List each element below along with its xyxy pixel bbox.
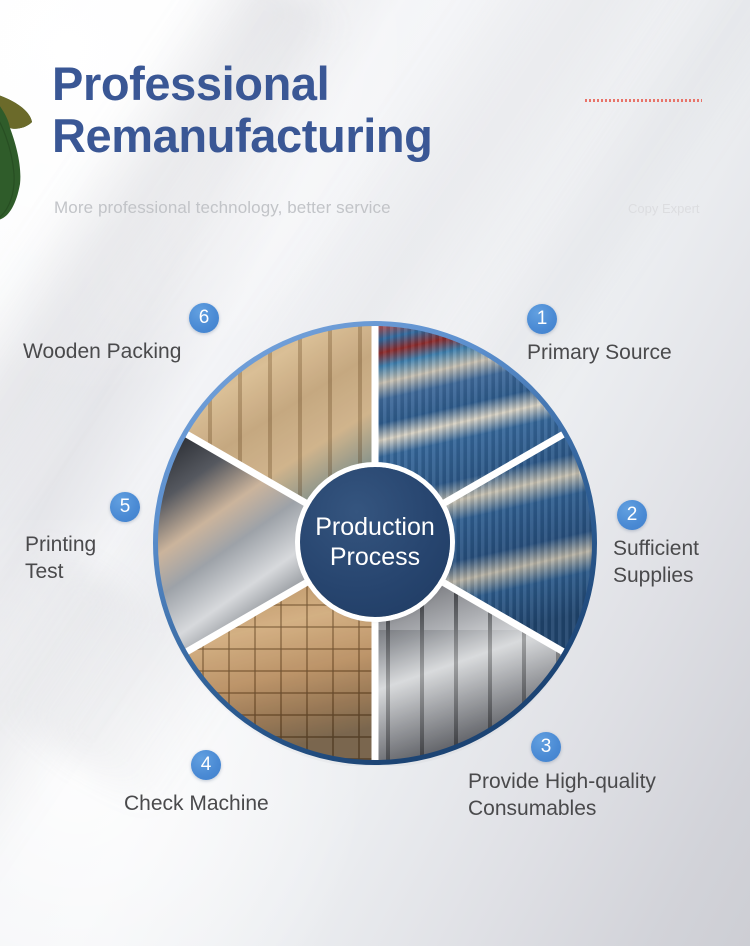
- step-label-6: Wooden Packing: [23, 338, 181, 365]
- page-title: Professional Remanufacturing: [52, 58, 433, 162]
- step-badge-4[interactable]: 4: [191, 750, 221, 780]
- step-badge-5[interactable]: 5: [110, 492, 140, 522]
- infographic-page: Professional Remanufacturing More profes…: [0, 0, 750, 946]
- step-badge-3[interactable]: 3: [531, 732, 561, 762]
- page-subtitle: More professional technology, better ser…: [54, 198, 391, 218]
- page-title-line2: Remanufacturing: [52, 110, 433, 162]
- background-shadow-band: [0, 532, 168, 946]
- page-title-line1: Professional: [52, 58, 433, 110]
- hub-line1: Production: [315, 512, 435, 542]
- watermark-label: Copy Expert: [628, 201, 700, 216]
- dotted-accent-line: [585, 99, 702, 102]
- step-label-5: Printing Test: [25, 531, 96, 585]
- wheel-hub: Production Process: [300, 467, 450, 617]
- green-leaf-icon: [0, 88, 38, 220]
- step-label-2: Sufficient Supplies: [613, 535, 699, 589]
- step-label-3: Provide High-quality Consumables: [468, 768, 656, 822]
- step-label-1: Primary Source: [527, 339, 672, 366]
- step-badge-1[interactable]: 1: [527, 304, 557, 334]
- step-badge-6[interactable]: 6: [189, 303, 219, 333]
- step-badge-2[interactable]: 2: [617, 500, 647, 530]
- hub-line2: Process: [330, 542, 420, 572]
- step-label-4: Check Machine: [124, 790, 269, 817]
